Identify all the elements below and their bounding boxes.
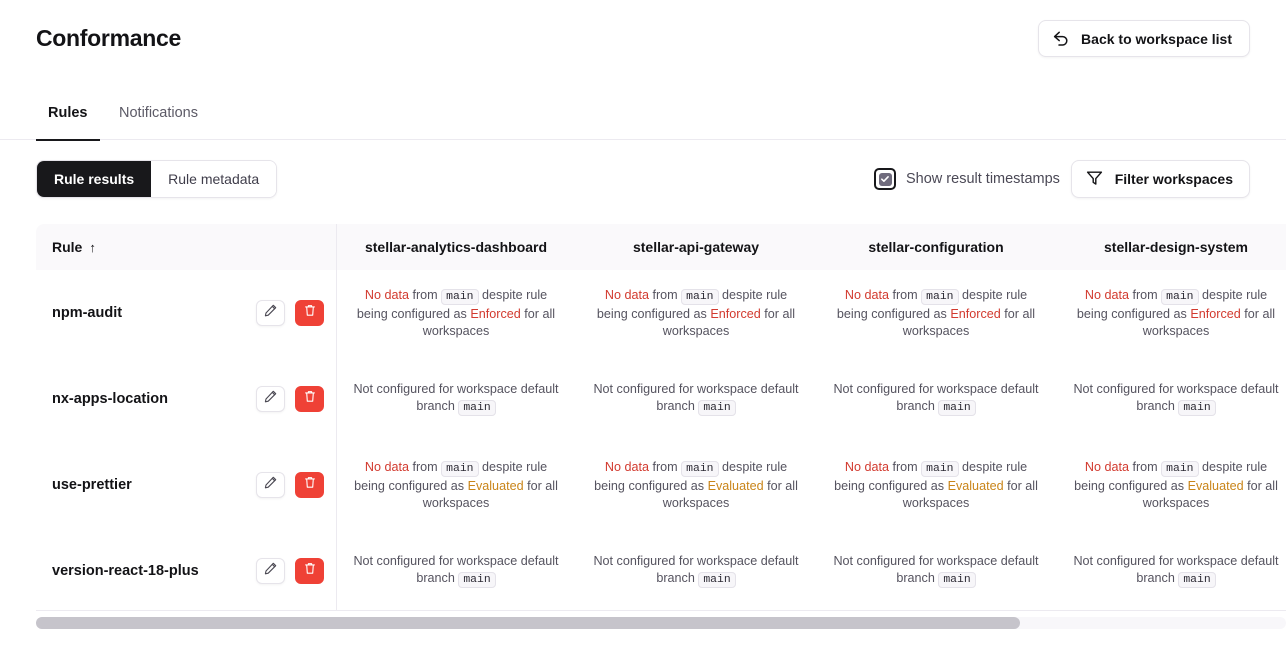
cell-text-from: from bbox=[889, 460, 921, 474]
column-header-workspace-1-label: stellar-api-gateway bbox=[592, 239, 800, 255]
branch-badge: main bbox=[441, 289, 478, 305]
no-data-label: No data bbox=[605, 460, 649, 474]
conformance-page: Conformance Back to workspace list Rules… bbox=[0, 0, 1286, 667]
cell-text-from: from bbox=[649, 288, 681, 302]
not-configured-label: Not configured for workspace default bra… bbox=[353, 554, 558, 585]
edit-rule-button[interactable] bbox=[256, 300, 285, 326]
trash-icon bbox=[304, 304, 316, 322]
result-cell-text: No data from main despite rule being con… bbox=[336, 287, 576, 340]
sticky-column-divider bbox=[336, 224, 337, 610]
rule-cell: npm-audit bbox=[36, 270, 336, 356]
trash-icon bbox=[304, 390, 316, 408]
no-data-label: No data bbox=[365, 460, 409, 474]
not-configured-label: Not configured for workspace default bra… bbox=[833, 382, 1038, 413]
result-cell: Not configured for workspace default bra… bbox=[336, 356, 576, 442]
branch-badge: main bbox=[1178, 400, 1215, 416]
result-cell-text: Not configured for workspace default bra… bbox=[336, 553, 576, 589]
no-data-label: No data bbox=[1085, 288, 1129, 302]
result-cell: No data from main despite rule being con… bbox=[816, 270, 1056, 356]
segment-rule-results[interactable]: Rule results bbox=[37, 161, 151, 197]
table-bottom-border bbox=[36, 610, 1286, 611]
rule-cell: use-prettier bbox=[36, 442, 336, 528]
rule-name: version-react-18-plus bbox=[52, 563, 199, 579]
rule-actions bbox=[256, 558, 324, 584]
back-arrow-icon bbox=[1053, 31, 1070, 46]
checkmark-icon bbox=[880, 174, 890, 184]
rule-status-label: Evaluated bbox=[948, 479, 1004, 493]
result-cell: Not configured for workspace default bra… bbox=[816, 528, 1056, 610]
branch-badge: main bbox=[681, 461, 718, 477]
branch-badge: main bbox=[458, 572, 495, 588]
tab-rules[interactable]: Rules bbox=[48, 104, 88, 140]
column-header-workspace-1[interactable]: stellar-api-gateway bbox=[576, 224, 816, 270]
checkbox-fill bbox=[879, 173, 892, 186]
cell-text-from: from bbox=[649, 460, 681, 474]
rule-status-label: Enforced bbox=[710, 307, 760, 321]
not-configured-label: Not configured for workspace default bra… bbox=[593, 382, 798, 413]
not-configured-label: Not configured for workspace default bra… bbox=[593, 554, 798, 585]
rule-cell: version-react-18-plus bbox=[36, 528, 336, 610]
rule-status-label: Enforced bbox=[950, 307, 1000, 321]
branch-badge: main bbox=[458, 400, 495, 416]
result-cell: Not configured for workspace default bra… bbox=[576, 528, 816, 610]
column-header-rule[interactable]: Rule ↑ bbox=[36, 224, 336, 270]
pencil-icon bbox=[264, 476, 277, 494]
not-configured-label: Not configured for workspace default bra… bbox=[1073, 554, 1278, 585]
column-header-workspace-3[interactable]: stellar-design-system bbox=[1056, 224, 1286, 270]
sort-ascending-icon: ↑ bbox=[89, 240, 96, 255]
rule-name: nx-apps-location bbox=[52, 391, 168, 407]
result-cell: Not configured for workspace default bra… bbox=[1056, 356, 1286, 442]
trash-icon bbox=[304, 562, 316, 580]
result-cell-text: No data from main despite rule being con… bbox=[816, 459, 1056, 512]
not-configured-label: Not configured for workspace default bra… bbox=[833, 554, 1038, 585]
branch-badge: main bbox=[1161, 461, 1198, 477]
horizontal-scrollbar-track[interactable] bbox=[36, 617, 1286, 629]
rule-cell: nx-apps-location bbox=[36, 356, 336, 442]
filter-workspaces-label: Filter workspaces bbox=[1115, 171, 1233, 187]
cell-text-from: from bbox=[1129, 288, 1161, 302]
back-to-workspace-list-button[interactable]: Back to workspace list bbox=[1038, 20, 1250, 57]
result-cell: No data from main despite rule being con… bbox=[336, 442, 576, 528]
result-cell-text: No data from main despite rule being con… bbox=[576, 287, 816, 340]
delete-rule-button[interactable] bbox=[295, 558, 324, 584]
branch-badge: main bbox=[441, 461, 478, 477]
column-header-workspace-3-label: stellar-design-system bbox=[1072, 239, 1280, 255]
segment-rule-results-label: Rule results bbox=[54, 171, 134, 187]
filter-workspaces-button[interactable]: Filter workspaces bbox=[1071, 160, 1250, 198]
column-header-workspace-0[interactable]: stellar-analytics-dashboard bbox=[336, 224, 576, 270]
segment-rule-metadata[interactable]: Rule metadata bbox=[151, 161, 276, 197]
edit-rule-button[interactable] bbox=[256, 472, 285, 498]
show-result-timestamps-checkbox[interactable] bbox=[874, 168, 896, 190]
table-body: npm-audit No data from main despite rule… bbox=[36, 270, 1286, 610]
result-cell-text: Not configured for workspace default bra… bbox=[576, 381, 816, 417]
rule-status-label: Evaluated bbox=[708, 479, 764, 493]
cell-text-from: from bbox=[409, 288, 441, 302]
trash-icon bbox=[304, 476, 316, 494]
branch-badge: main bbox=[698, 572, 735, 588]
result-cell-text: Not configured for workspace default bra… bbox=[816, 381, 1056, 417]
result-cell: No data from main despite rule being con… bbox=[576, 270, 816, 356]
no-data-label: No data bbox=[365, 288, 409, 302]
column-header-rule-label: Rule bbox=[52, 239, 82, 255]
page-title: Conformance bbox=[36, 25, 181, 52]
toolbar: Rule results Rule metadata Show result t… bbox=[0, 160, 1286, 198]
rule-actions bbox=[256, 472, 324, 498]
funnel-icon bbox=[1086, 170, 1103, 189]
delete-rule-button[interactable] bbox=[295, 300, 324, 326]
column-header-workspace-0-label: stellar-analytics-dashboard bbox=[352, 239, 560, 255]
branch-badge: main bbox=[1161, 289, 1198, 305]
result-cell: Not configured for workspace default bra… bbox=[1056, 528, 1286, 610]
result-cell-text: No data from main despite rule being con… bbox=[816, 287, 1056, 340]
edit-rule-button[interactable] bbox=[256, 386, 285, 412]
not-configured-label: Not configured for workspace default bra… bbox=[1073, 382, 1278, 413]
result-cell-text: No data from main despite rule being con… bbox=[1056, 287, 1286, 340]
results-table-viewport[interactable]: Rule ↑ stellar-analytics-dashboard stell… bbox=[36, 224, 1286, 610]
no-data-label: No data bbox=[845, 288, 889, 302]
conformance-results-table: Rule ↑ stellar-analytics-dashboard stell… bbox=[36, 224, 1286, 610]
branch-badge: main bbox=[698, 400, 735, 416]
result-cell: No data from main despite rule being con… bbox=[576, 442, 816, 528]
result-cell-text: Not configured for workspace default bra… bbox=[336, 381, 576, 417]
result-cell: Not configured for workspace default bra… bbox=[336, 528, 576, 610]
delete-rule-button[interactable] bbox=[295, 472, 324, 498]
table-head: Rule ↑ stellar-analytics-dashboard stell… bbox=[36, 224, 1286, 270]
result-cell-text: No data from main despite rule being con… bbox=[1056, 459, 1286, 512]
column-header-workspace-2[interactable]: stellar-configuration bbox=[816, 224, 1056, 270]
edit-rule-button[interactable] bbox=[256, 558, 285, 584]
branch-badge: main bbox=[921, 461, 958, 477]
delete-rule-button[interactable] bbox=[295, 386, 324, 412]
rule-actions bbox=[256, 300, 324, 326]
result-cell: No data from main despite rule being con… bbox=[1056, 270, 1286, 356]
branch-badge: main bbox=[1178, 572, 1215, 588]
tab-notifications-label: Notifications bbox=[119, 105, 198, 121]
table-row: use-prettier No data from main despite r… bbox=[36, 442, 1286, 528]
cell-text-from: from bbox=[1129, 460, 1161, 474]
rule-status-label: Enforced bbox=[470, 307, 520, 321]
column-header-workspace-2-label: stellar-configuration bbox=[832, 239, 1040, 255]
result-cell: No data from main despite rule being con… bbox=[336, 270, 576, 356]
cell-text-from: from bbox=[409, 460, 441, 474]
branch-badge: main bbox=[938, 572, 975, 588]
result-cell-text: No data from main despite rule being con… bbox=[576, 459, 816, 512]
branch-badge: main bbox=[938, 400, 975, 416]
rule-status-label: Evaluated bbox=[468, 479, 524, 493]
table-row: nx-apps-location Not configured for work… bbox=[36, 356, 1286, 442]
branch-badge: main bbox=[921, 289, 958, 305]
result-cell-text: Not configured for workspace default bra… bbox=[1056, 381, 1286, 417]
show-result-timestamps-label: Show result timestamps bbox=[906, 171, 1060, 187]
result-cell-text: No data from main despite rule being con… bbox=[336, 459, 576, 512]
no-data-label: No data bbox=[845, 460, 889, 474]
tab-notifications[interactable]: Notifications bbox=[119, 104, 198, 140]
tab-bar: Rules Notifications bbox=[0, 104, 1286, 140]
rule-name: use-prettier bbox=[52, 477, 132, 493]
pencil-icon bbox=[264, 562, 277, 580]
page-header: Conformance Back to workspace list bbox=[0, 0, 1286, 78]
result-cell-text: Not configured for workspace default bra… bbox=[576, 553, 816, 589]
horizontal-scrollbar-thumb[interactable] bbox=[36, 617, 1020, 629]
no-data-label: No data bbox=[605, 288, 649, 302]
result-cell: No data from main despite rule being con… bbox=[1056, 442, 1286, 528]
rule-status-label: Enforced bbox=[1190, 307, 1240, 321]
rule-name: npm-audit bbox=[52, 305, 122, 321]
view-mode-segmented-control: Rule results Rule metadata bbox=[36, 160, 277, 198]
rule-status-label: Evaluated bbox=[1188, 479, 1244, 493]
rule-actions bbox=[256, 386, 324, 412]
no-data-label: No data bbox=[1085, 460, 1129, 474]
show-result-timestamps-control[interactable]: Show result timestamps bbox=[874, 168, 1060, 190]
table-row: version-react-18-plus Not configured for… bbox=[36, 528, 1286, 610]
table-header-row: Rule ↑ stellar-analytics-dashboard stell… bbox=[36, 224, 1286, 270]
back-button-label: Back to workspace list bbox=[1081, 31, 1232, 47]
result-cell: Not configured for workspace default bra… bbox=[576, 356, 816, 442]
pencil-icon bbox=[264, 390, 277, 408]
branch-badge: main bbox=[681, 289, 718, 305]
tab-rules-label: Rules bbox=[48, 105, 88, 121]
result-cell-text: Not configured for workspace default bra… bbox=[1056, 553, 1286, 589]
segment-rule-metadata-label: Rule metadata bbox=[168, 171, 259, 187]
pencil-icon bbox=[264, 304, 277, 322]
result-cell: Not configured for workspace default bra… bbox=[816, 356, 1056, 442]
result-cell: No data from main despite rule being con… bbox=[816, 442, 1056, 528]
table-row: npm-audit No data from main despite rule… bbox=[36, 270, 1286, 356]
cell-text-from: from bbox=[889, 288, 921, 302]
result-cell-text: Not configured for workspace default bra… bbox=[816, 553, 1056, 589]
not-configured-label: Not configured for workspace default bra… bbox=[353, 382, 558, 413]
